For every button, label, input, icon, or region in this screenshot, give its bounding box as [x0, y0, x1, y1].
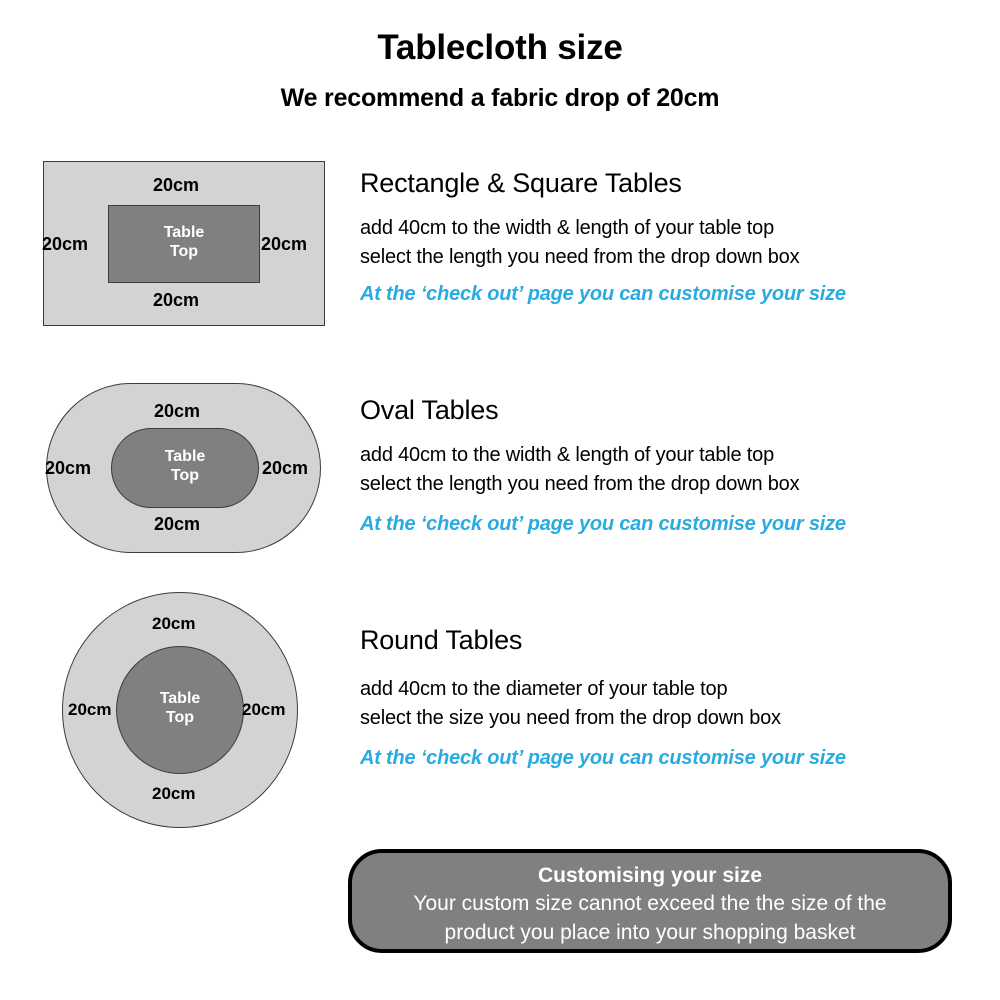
oval-tabletop-shape: Table Top: [111, 428, 259, 508]
oval-tabletop-line1: Table: [165, 448, 206, 465]
oval-drop-left: 20cm: [45, 458, 91, 479]
oval-text-block: Oval Tables add 40cm to the width & leng…: [360, 395, 846, 536]
rectangle-tabletop-shape: Table Top: [108, 205, 260, 283]
oval-drop-bottom: 20cm: [154, 514, 200, 535]
customising-callout: Customising your size Your custom size c…: [348, 849, 952, 953]
round-tabletop-shape: Table Top: [116, 646, 244, 774]
rectangle-drop-right: 20cm: [261, 234, 307, 255]
callout-title: Customising your size: [352, 862, 948, 889]
oval-heading: Oval Tables: [360, 395, 846, 426]
rectangle-checkout-note: At the ‘check out’ page you can customis…: [360, 283, 846, 306]
round-tabletop-line2: Top: [166, 709, 194, 726]
round-checkout-note: At the ‘check out’ page you can customis…: [360, 747, 846, 770]
oval-drop-right: 20cm: [262, 458, 308, 479]
round-tabletop-line1: Table: [160, 690, 201, 707]
page-subtitle: We recommend a fabric drop of 20cm: [0, 84, 1000, 113]
round-heading: Round Tables: [360, 625, 846, 656]
rectangle-drop-left: 20cm: [42, 234, 88, 255]
oval-tabletop-label: Table Top: [112, 447, 258, 485]
round-drop-bottom: 20cm: [152, 784, 195, 804]
round-diagram: Table Top 20cm 20cm 20cm 20cm: [62, 592, 298, 828]
oval-line-1: add 40cm to the width & length of your t…: [360, 444, 846, 467]
callout-line-1: Your custom size cannot exceed the the s…: [352, 889, 948, 918]
rectangle-heading: Rectangle & Square Tables: [360, 168, 846, 199]
rectangle-tabletop-line1: Table: [164, 224, 205, 241]
round-line-1: add 40cm to the diameter of your table t…: [360, 678, 846, 701]
rectangle-drop-bottom: 20cm: [153, 290, 199, 311]
round-drop-top: 20cm: [152, 614, 195, 634]
round-drop-left: 20cm: [68, 700, 111, 720]
rectangle-line-2: select the length you need from the drop…: [360, 246, 846, 269]
oval-line-2: select the length you need from the drop…: [360, 473, 846, 496]
oval-drop-top: 20cm: [154, 401, 200, 422]
round-line-2: select the size you need from the drop d…: [360, 707, 846, 730]
rectangle-diagram: Table Top 20cm 20cm 20cm 20cm: [43, 161, 325, 326]
oval-diagram: Table Top 20cm 20cm 20cm 20cm: [46, 383, 321, 553]
rectangle-tabletop-line2: Top: [170, 243, 198, 260]
oval-tabletop-line2: Top: [171, 467, 199, 484]
rectangle-tabletop-label: Table Top: [109, 223, 259, 261]
page-title: Tablecloth size: [0, 28, 1000, 68]
round-tabletop-label: Table Top: [117, 689, 243, 727]
round-drop-right: 20cm: [242, 700, 285, 720]
round-text-block: Round Tables add 40cm to the diameter of…: [360, 625, 846, 770]
oval-checkout-note: At the ‘check out’ page you can customis…: [360, 513, 846, 536]
rectangle-text-block: Rectangle & Square Tables add 40cm to th…: [360, 168, 846, 306]
rectangle-drop-top: 20cm: [153, 175, 199, 196]
callout-line-2: product you place into your shopping bas…: [352, 918, 948, 947]
rectangle-line-1: add 40cm to the width & length of your t…: [360, 217, 846, 240]
